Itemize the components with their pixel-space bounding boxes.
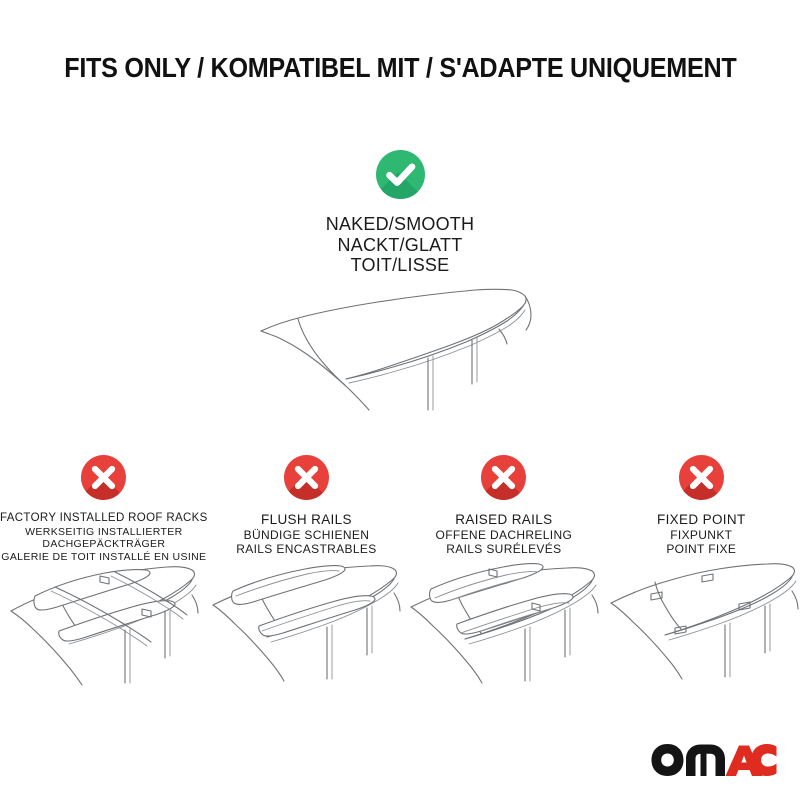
option-label-en: FLUSH RAILS (208, 512, 405, 528)
option-label-en: RAISED RAILS (405, 512, 602, 528)
incompatible-options: FACTORY INSTALLED ROOF RACKS WERKSEITIG … (0, 455, 800, 563)
car-roof-raised-rails-illustration (399, 543, 609, 693)
check-circle-icon (376, 150, 425, 199)
compatible-label-de: NACKT/GLATT (0, 235, 800, 256)
option-raised-rails: RAISED RAILS OFFENE DACHRELING RAILS SUR… (405, 455, 602, 563)
option-label-de-1: FIXPUNKT (603, 528, 800, 542)
compatible-label: NAKED/SMOOTH NACKT/GLATT TOIT/LISSE (0, 214, 800, 276)
cross-circle-icon (679, 455, 724, 500)
compatible-label-en: NAKED/SMOOTH (0, 214, 800, 235)
cross-circle-icon (81, 455, 126, 500)
car-roof-naked-smooth-illustration (250, 284, 550, 414)
page-title: FITS ONLY / KOMPATIBEL MIT / S'ADAPTE UN… (0, 52, 800, 84)
car-roof-fixed-point-illustration (596, 543, 800, 693)
car-roof-factory-roof-racks-illustration (0, 543, 209, 693)
cross-circle-icon (284, 455, 329, 500)
car-roof-flush-rails-illustration (201, 543, 411, 693)
option-flush-rails: FLUSH RAILS BÜNDIGE SCHIENEN RAILS ENCAS… (208, 455, 405, 563)
option-label-en: FACTORY INSTALLED ROOF RACKS (0, 512, 208, 526)
compatible-section: NAKED/SMOOTH NACKT/GLATT TOIT/LISSE (0, 150, 800, 276)
option-label-de-1: BÜNDIGE SCHIENEN (208, 528, 405, 542)
option-label-de-1: OFFENE DACHRELING (405, 528, 602, 542)
option-fixed-point: FIXED POINT FIXPUNKT POINT FIXE (603, 455, 800, 563)
option-factory-roof-racks: FACTORY INSTALLED ROOF RACKS WERKSEITIG … (0, 455, 208, 563)
omac-logo (650, 742, 778, 778)
compatible-label-fr: TOIT/LISSE (0, 255, 800, 276)
option-label-en: FIXED POINT (603, 512, 800, 528)
page-title-text: FITS ONLY / KOMPATIBEL MIT / S'ADAPTE UN… (64, 52, 736, 84)
option-label-de-1: WERKSEITIG INSTALLIERTER (0, 526, 208, 539)
cross-circle-icon (481, 455, 526, 500)
